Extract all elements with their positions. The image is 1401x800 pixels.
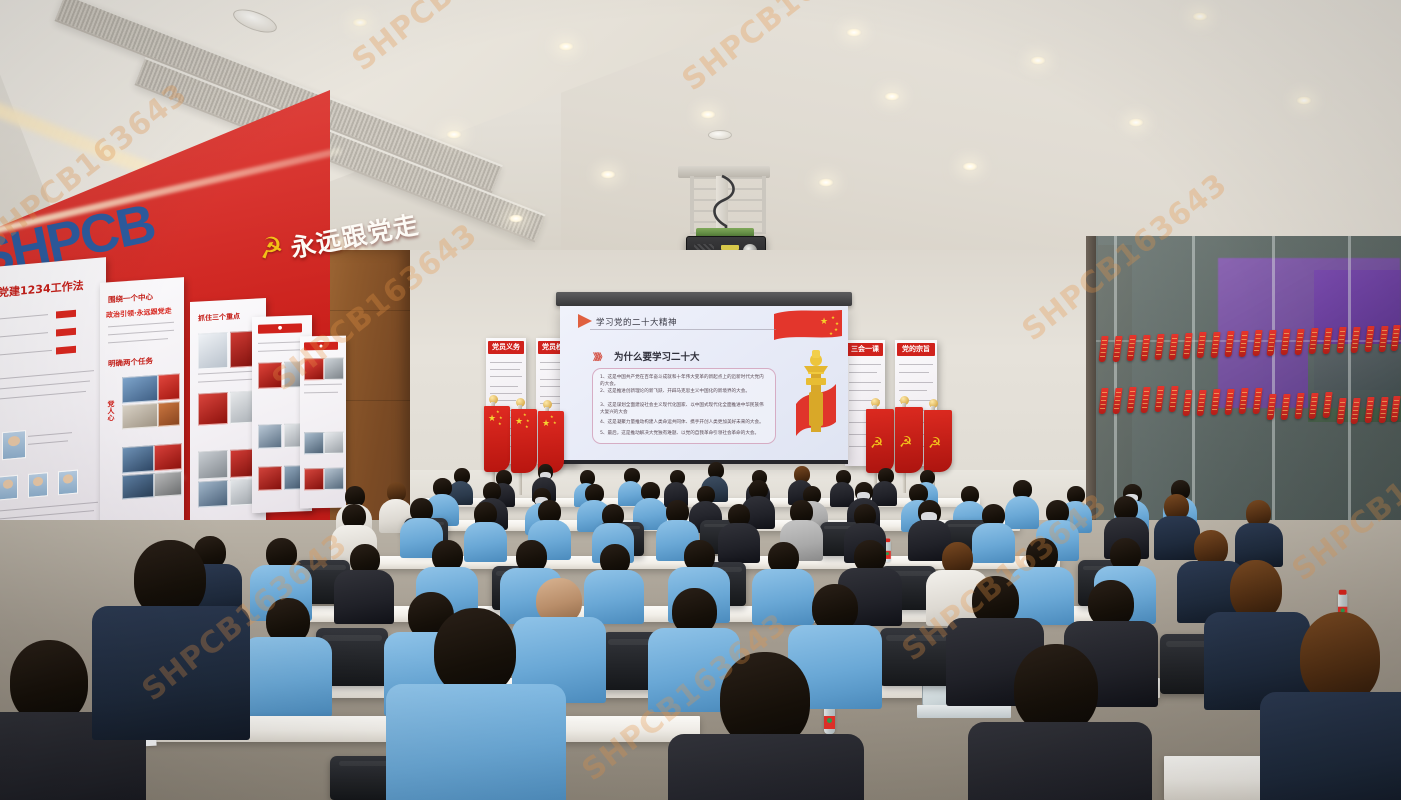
panel-title-party-duty: 党员义务 xyxy=(488,341,524,354)
party-emblem-icon: ☭ xyxy=(899,436,912,450)
party-emblem-icon: ☭ xyxy=(870,437,883,451)
panel-heading-one-center: 围绕一个中心 xyxy=(108,291,153,305)
svg-text:★: ★ xyxy=(834,327,838,333)
slide-bullet: 5、最后，这是推动解决大党独有难题、以党的自我革命引领社会革命的大会。 xyxy=(600,430,768,437)
downlight-icon xyxy=(818,178,834,187)
panel-title-three-meetings: 三会一课 xyxy=(847,343,883,356)
downlight-icon xyxy=(962,162,978,171)
projector-cable-icon xyxy=(702,174,748,236)
downlight-icon xyxy=(558,42,574,51)
projection-screen-bottom-bar xyxy=(560,460,848,464)
office-chair xyxy=(880,628,954,686)
downlight-icon xyxy=(1296,96,1312,105)
prc-flag: ★ ★ ★ ★ xyxy=(484,406,510,472)
downlight-icon xyxy=(1030,56,1046,65)
prc-flag: ★ ★ ★ ★ xyxy=(511,409,537,473)
slide-title-arrow-icon xyxy=(578,314,592,328)
downlight-icon xyxy=(846,28,862,37)
svg-text:★: ★ xyxy=(820,317,828,327)
downlight-icon xyxy=(508,214,524,223)
prc-flag-graphic-icon: ★ ★ ★ ★ ★ xyxy=(772,310,844,348)
wall-panel-1234: 党建1234工作法 xyxy=(0,257,106,535)
ceiling-speaker-icon xyxy=(708,130,732,140)
slide-subtitle-arrows-icon: 》》》 xyxy=(593,350,605,363)
wall-panel-one-center: 围绕一个中心 政治引领·永远跟党走 明确两个任务 党人心 xyxy=(100,277,184,533)
panel-title-1234: 党建1234工作法 xyxy=(0,277,84,300)
party-emblem-icon: ☭ xyxy=(256,232,290,263)
panel-heading-three-focus: 抓住三个重点 xyxy=(198,311,240,323)
panel-title-party-purpose: 党的宗旨 xyxy=(897,343,935,356)
laptop-keyboard xyxy=(917,705,1011,718)
cpc-flag: ☭ xyxy=(924,410,952,472)
downlight-icon xyxy=(884,92,900,101)
panel-vertical-text: 党人心 xyxy=(106,400,116,422)
slide-bullet: 3、这是谋划全面建设社会主义现代化国家、以中国式现代化全面推进中华民族伟大复兴的… xyxy=(600,402,768,416)
downlight-icon xyxy=(700,110,716,119)
slide-bullet: 4、这是凝聚力量推动构建人类命运共同体、携手开创人类更加美好未来的大会。 xyxy=(600,419,768,426)
downlight-icon xyxy=(446,130,462,139)
cpc-flag: ☭ xyxy=(866,409,894,473)
slide-subtitle: 为什么要学习二十大 xyxy=(614,349,700,363)
slide-title: 学习党的二十大精神 xyxy=(596,316,677,328)
svg-text:★: ★ xyxy=(829,331,833,337)
downlight-icon xyxy=(600,170,616,179)
downlight-icon xyxy=(352,18,368,27)
svg-text:★: ★ xyxy=(835,321,839,327)
svg-text:★: ★ xyxy=(831,315,835,321)
wall-panel-extra-b: ● xyxy=(300,336,346,509)
meeting-room-photo: SHPCB ☭ 永远跟党走 党建1234工作法 围绕一个中心 政治引领·永远跟党… xyxy=(0,0,1401,800)
downlight-icon xyxy=(1128,118,1144,127)
projection-screen-housing xyxy=(556,292,852,306)
cpc-flag: ☭ xyxy=(895,407,923,473)
panel-heading-political: 政治引领·永远跟党走 xyxy=(106,306,172,321)
huabiao-column-icon xyxy=(794,344,838,448)
panel-heading-two-tasks: 明确两个任务 xyxy=(108,355,153,369)
slide-title-divider xyxy=(590,329,776,330)
projection-screen: ★ ★ ★ ★ ★ 学习党的二十大精神 》》》 为什么要学习二十大 1、这是中国… xyxy=(560,306,848,462)
party-emblem-icon: ☭ xyxy=(928,437,941,451)
slide-bullet: 1、这是中国共产党在百年奋斗成就和十年伟大变革的新起点上的迈新时代大党内的大会。 xyxy=(600,374,768,388)
downlight-icon xyxy=(1192,12,1208,21)
slide-bullet: 2、这是推进创新理论的新飞跃、开辟马克思主义中国化的新境界的大会。 xyxy=(600,388,768,395)
